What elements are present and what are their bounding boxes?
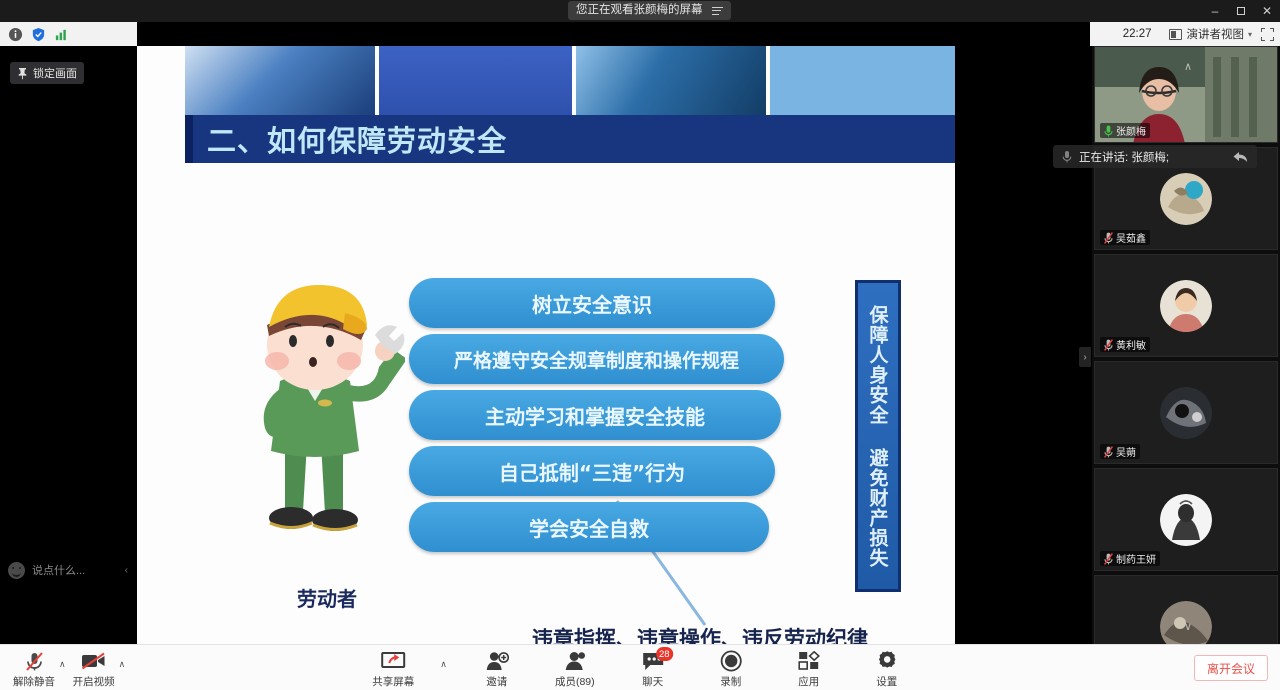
chat-collapse-icon[interactable]: ‹: [125, 565, 128, 576]
avatar: [1160, 173, 1212, 225]
participant-name: 制药王妍: [1116, 551, 1156, 566]
participant-name: 吴茹鑫: [1116, 230, 1146, 245]
mic-off-icon: [1104, 232, 1113, 244]
meeting-view-controls: 22:27 演讲者视图 ▾: [1090, 22, 1280, 46]
participant-name: 张颜梅: [1116, 123, 1146, 138]
mic-off-icon: [24, 650, 45, 672]
signal-icon[interactable]: [54, 27, 69, 42]
shield-icon[interactable]: [31, 27, 46, 42]
measure-item-5: 学会安全自救: [409, 502, 769, 552]
avatar-image: [1160, 387, 1212, 439]
share-screen-icon: [380, 650, 406, 672]
banner-panel-2: [379, 46, 572, 115]
minimize-button[interactable]: –: [1202, 0, 1228, 22]
mic-off-icon: [1104, 553, 1113, 565]
panel-scroll-up-icon[interactable]: ∧: [1180, 60, 1196, 73]
measure-item-4: 自己抵制“三违”行为: [409, 446, 775, 496]
participants-icon: [563, 650, 587, 672]
participant-tile[interactable]: 吴蒴: [1094, 361, 1278, 464]
toolbar-center-group: 共享屏幕 ∧ 邀请: [365, 647, 915, 689]
share-screen-button[interactable]: 共享屏幕: [365, 647, 421, 689]
fullscreen-icon[interactable]: [1261, 28, 1274, 41]
measure-item-2: 严格遵守安全规章制度和操作规程: [409, 334, 784, 384]
window-titlebar: 您正在观看张颜梅的屏幕 – ✕: [0, 0, 1280, 22]
participant-name-chip: 制药王妍: [1100, 551, 1160, 566]
worker-illustration: [225, 273, 405, 553]
avatar-image: [1160, 173, 1212, 225]
invite-icon: [485, 650, 509, 672]
avatar: [1160, 280, 1212, 332]
maximize-button[interactable]: [1228, 0, 1254, 22]
lock-screen-label: 锁定画面: [33, 65, 77, 81]
presentation-slide: 二、如何保障劳动安全: [137, 46, 955, 644]
shared-screen-stage[interactable]: 二、如何保障劳动安全: [137, 46, 955, 644]
chevron-down-icon[interactable]: ▾: [1248, 30, 1252, 39]
avatar: [1160, 387, 1212, 439]
vertical-callout-box: 保障人身安全 避免财产损失: [855, 280, 901, 592]
speaker-view-icon: [1169, 29, 1182, 40]
window-controls: – ✕: [1202, 0, 1280, 22]
gear-icon: [876, 650, 898, 672]
clock: 22:27: [1123, 28, 1152, 40]
measure-item-1: 树立安全意识: [409, 278, 775, 328]
banner-panel-4: [770, 46, 955, 115]
mic-on-icon: [1104, 125, 1113, 137]
apps-label: 应用: [798, 674, 819, 689]
leave-meeting-button[interactable]: 离开会议: [1194, 655, 1268, 681]
zoom-meeting-window: 您正在观看张颜梅的屏幕 – ✕ 22:27 演讲者视图: [0, 0, 1280, 690]
participants-panel: 张颜梅 吴茹鑫: [1092, 46, 1280, 644]
screen-share-notice: 您正在观看张颜梅的屏幕: [568, 1, 731, 20]
mic-off-icon: [1104, 446, 1113, 458]
start-video-label: 开启视频: [73, 674, 115, 689]
panel-collapse-button[interactable]: ›: [1079, 347, 1091, 367]
active-speaker-text: 正在讲话: 张颜梅;: [1079, 149, 1226, 165]
record-icon: [720, 650, 742, 672]
vertical-callout-text: 保障人身安全 避免财产损失: [865, 305, 892, 568]
slide-body: 劳动者 树立安全意识 严格遵守安全规章制度和操作规程 主动学习和掌握安全技能 自…: [137, 163, 955, 644]
participants-label: 成员(89): [555, 674, 595, 689]
worker-label: 劳动者: [257, 583, 397, 612]
lock-screen-button[interactable]: 锁定画面: [10, 62, 84, 84]
start-video-button[interactable]: 开启视频: [66, 647, 122, 689]
panel-scroll-down-icon[interactable]: ∨: [1180, 620, 1196, 633]
avatar: [1160, 494, 1212, 546]
reply-arrow-icon[interactable]: [1233, 151, 1248, 163]
unmute-label: 解除静音: [13, 674, 55, 689]
participants-button[interactable]: 成员(89): [547, 647, 603, 689]
apps-icon: [798, 650, 820, 672]
settings-button[interactable]: 设置: [859, 647, 915, 689]
chat-button[interactable]: 28 聊天: [625, 647, 681, 689]
measures-list: 树立安全意识 严格遵守安全规章制度和操作规程 主动学习和掌握安全技能 自己抵制“…: [409, 278, 784, 558]
meeting-toolbar: 解除静音 ∧ 开启视频 ∧: [0, 644, 1280, 690]
share-options-caret[interactable]: ∧: [440, 659, 447, 670]
record-label: 录制: [720, 674, 741, 689]
info-icon[interactable]: [8, 27, 23, 42]
participant-name-chip: 张颜梅: [1100, 123, 1150, 138]
participant-name-chip: 黄利敏: [1100, 337, 1150, 352]
avatar-image: [1160, 494, 1212, 546]
avatar-image: [1160, 280, 1212, 332]
chat-input-bar[interactable]: 说点什么... ‹: [8, 558, 128, 582]
status-icon-strip: [0, 22, 137, 46]
active-speaker-banner: 正在讲话: 张颜梅;: [1053, 145, 1257, 168]
share-screen-label: 共享屏幕: [372, 674, 414, 689]
chat-unread-badge: 28: [656, 647, 673, 661]
unmute-button[interactable]: 解除静音: [6, 647, 62, 689]
banner-panel-3: [576, 46, 766, 115]
banner-panel-1: [185, 46, 375, 115]
mic-icon: [1062, 150, 1072, 163]
record-button[interactable]: 录制: [703, 647, 759, 689]
share-notice-text: 您正在观看张颜梅的屏幕: [576, 1, 703, 20]
slide-title: 二、如何保障劳动安全: [193, 118, 507, 160]
participant-name-chip: 吴蒴: [1100, 444, 1140, 459]
video-off-icon: [81, 650, 106, 672]
maximize-icon: [1236, 6, 1246, 16]
apps-button[interactable]: 应用: [781, 647, 837, 689]
view-mode-switch[interactable]: 演讲者视图 ▾: [1169, 26, 1252, 42]
invite-label: 邀请: [486, 674, 507, 689]
slide-title-accent: [185, 115, 193, 163]
mic-off-icon: [1104, 339, 1113, 351]
chat-label: 聊天: [642, 674, 663, 689]
view-mode-label: 演讲者视图: [1186, 26, 1244, 42]
participant-name: 吴蒴: [1116, 444, 1136, 459]
participant-name-chip: 吴茹鑫: [1100, 230, 1150, 245]
participant-name: 黄利敏: [1116, 337, 1146, 352]
chat-input[interactable]: 说点什么...: [32, 562, 118, 578]
settings-label: 设置: [876, 674, 897, 689]
participant-tile[interactable]: 制药王妍: [1094, 468, 1278, 571]
slide-title-band: 二、如何保障劳动安全: [185, 115, 955, 163]
invite-button[interactable]: 邀请: [469, 647, 525, 689]
participant-tile[interactable]: 黄利敏: [1094, 254, 1278, 357]
pin-icon: [17, 67, 28, 80]
slide-banner-images: [185, 46, 955, 115]
participant-tile[interactable]: [1094, 575, 1278, 644]
close-button[interactable]: ✕: [1254, 0, 1280, 22]
hamburger-icon[interactable]: [712, 4, 723, 17]
toolbar-left-group: 解除静音 ∧ 开启视频 ∧: [6, 647, 125, 689]
measure-item-3: 主动学习和掌握安全技能: [409, 390, 781, 440]
emoji-icon[interactable]: [8, 562, 25, 579]
